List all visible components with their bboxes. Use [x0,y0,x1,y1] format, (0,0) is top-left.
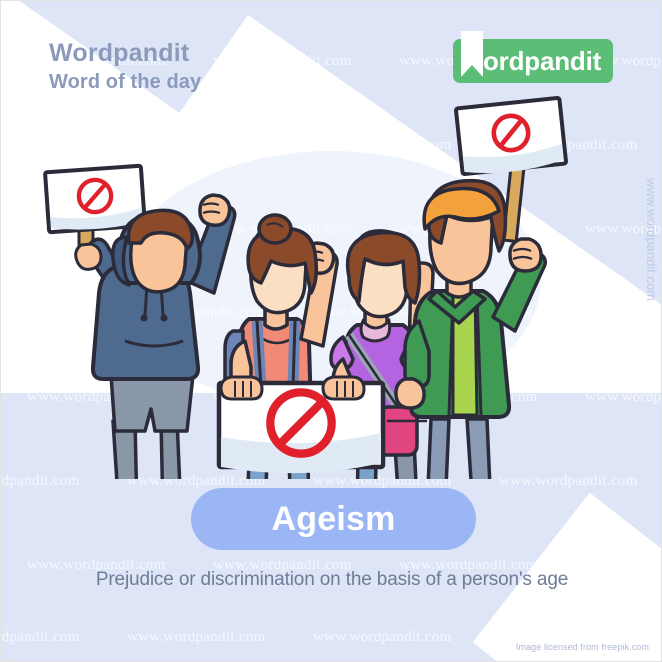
image-credit: Image licensed from freepik.com [516,642,649,652]
figure-hooded-man [76,195,235,479]
page-title: Wordpandit [49,39,189,68]
word-definition: Prejudice or discrimination on the basis… [1,569,662,591]
logo-label: ordpandit [483,46,601,77]
word-pill: Ageism [191,488,476,550]
bookmark-icon [461,31,483,77]
word-of-the-day: Ageism [271,500,395,539]
wordpandit-logo[interactable]: ordpandit [453,39,613,83]
protest-illustration [1,89,662,479]
word-of-the-day-card: www.wordpandit.com www.wordpandit.com ww… [0,0,662,662]
